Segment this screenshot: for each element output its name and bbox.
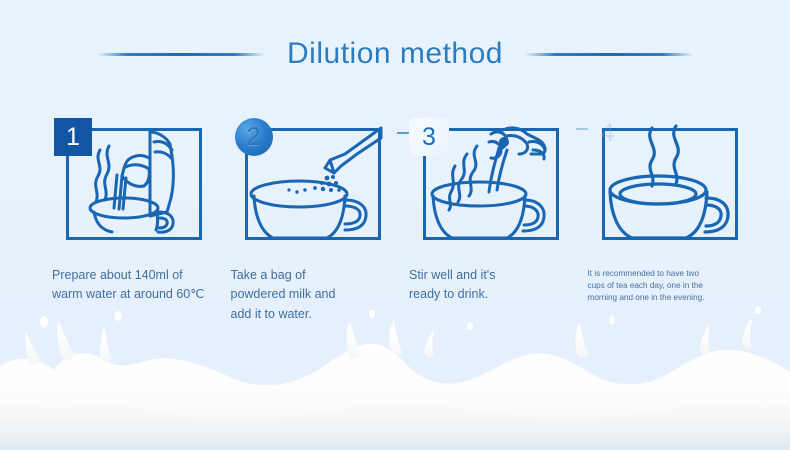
step-4-number: 4 bbox=[601, 121, 615, 146]
step-3-caption: Stir well and it's ready to drink. bbox=[409, 266, 589, 305]
dilution-method-page: Dilution method bbox=[0, 0, 790, 450]
step-item-3: 3 Stir well and it's ready to drink. bbox=[395, 120, 574, 320]
bottom-strip bbox=[0, 445, 790, 450]
step-4-illustration-wrap: 4 bbox=[590, 120, 738, 240]
step-item-2: 2 Take a bag of powdered milk and add it… bbox=[217, 120, 396, 320]
step-item-1: 1 Prepare about 140ml of warm water at a… bbox=[38, 120, 217, 320]
step-1-badge: 1 bbox=[54, 118, 92, 156]
step-3-number: 3 bbox=[422, 125, 436, 150]
step-4-tick-icon bbox=[576, 128, 588, 130]
step-item-4: 4 It is recommended to have two cups of … bbox=[574, 120, 753, 320]
step-1-caption: Prepare about 140ml of warm water at aro… bbox=[52, 266, 232, 305]
step-3-illustration-wrap: 3 bbox=[411, 120, 559, 240]
step-4-badge: 4 bbox=[588, 114, 628, 152]
step-3-badge: 3 bbox=[409, 118, 449, 156]
step-2-caption: Take a bag of powdered milk and add it t… bbox=[231, 266, 411, 324]
step-2-badge: 2 bbox=[235, 118, 273, 156]
title-rule-right bbox=[525, 53, 693, 56]
page-title: Dilution method bbox=[287, 37, 503, 71]
step-1-number: 1 bbox=[66, 125, 80, 150]
step-2-illustration-wrap: 2 bbox=[233, 120, 381, 240]
step-4-caption: It is recommended to have two cups of te… bbox=[588, 268, 756, 304]
steps-row: 1 Prepare about 140ml of warm water at a… bbox=[0, 120, 790, 320]
step-2-number: 2 bbox=[247, 125, 261, 150]
title-rule-left bbox=[97, 53, 265, 56]
step-1-illustration-wrap: 1 bbox=[54, 120, 202, 240]
page-header: Dilution method bbox=[0, 32, 790, 76]
step-3-tick-icon bbox=[397, 132, 409, 134]
